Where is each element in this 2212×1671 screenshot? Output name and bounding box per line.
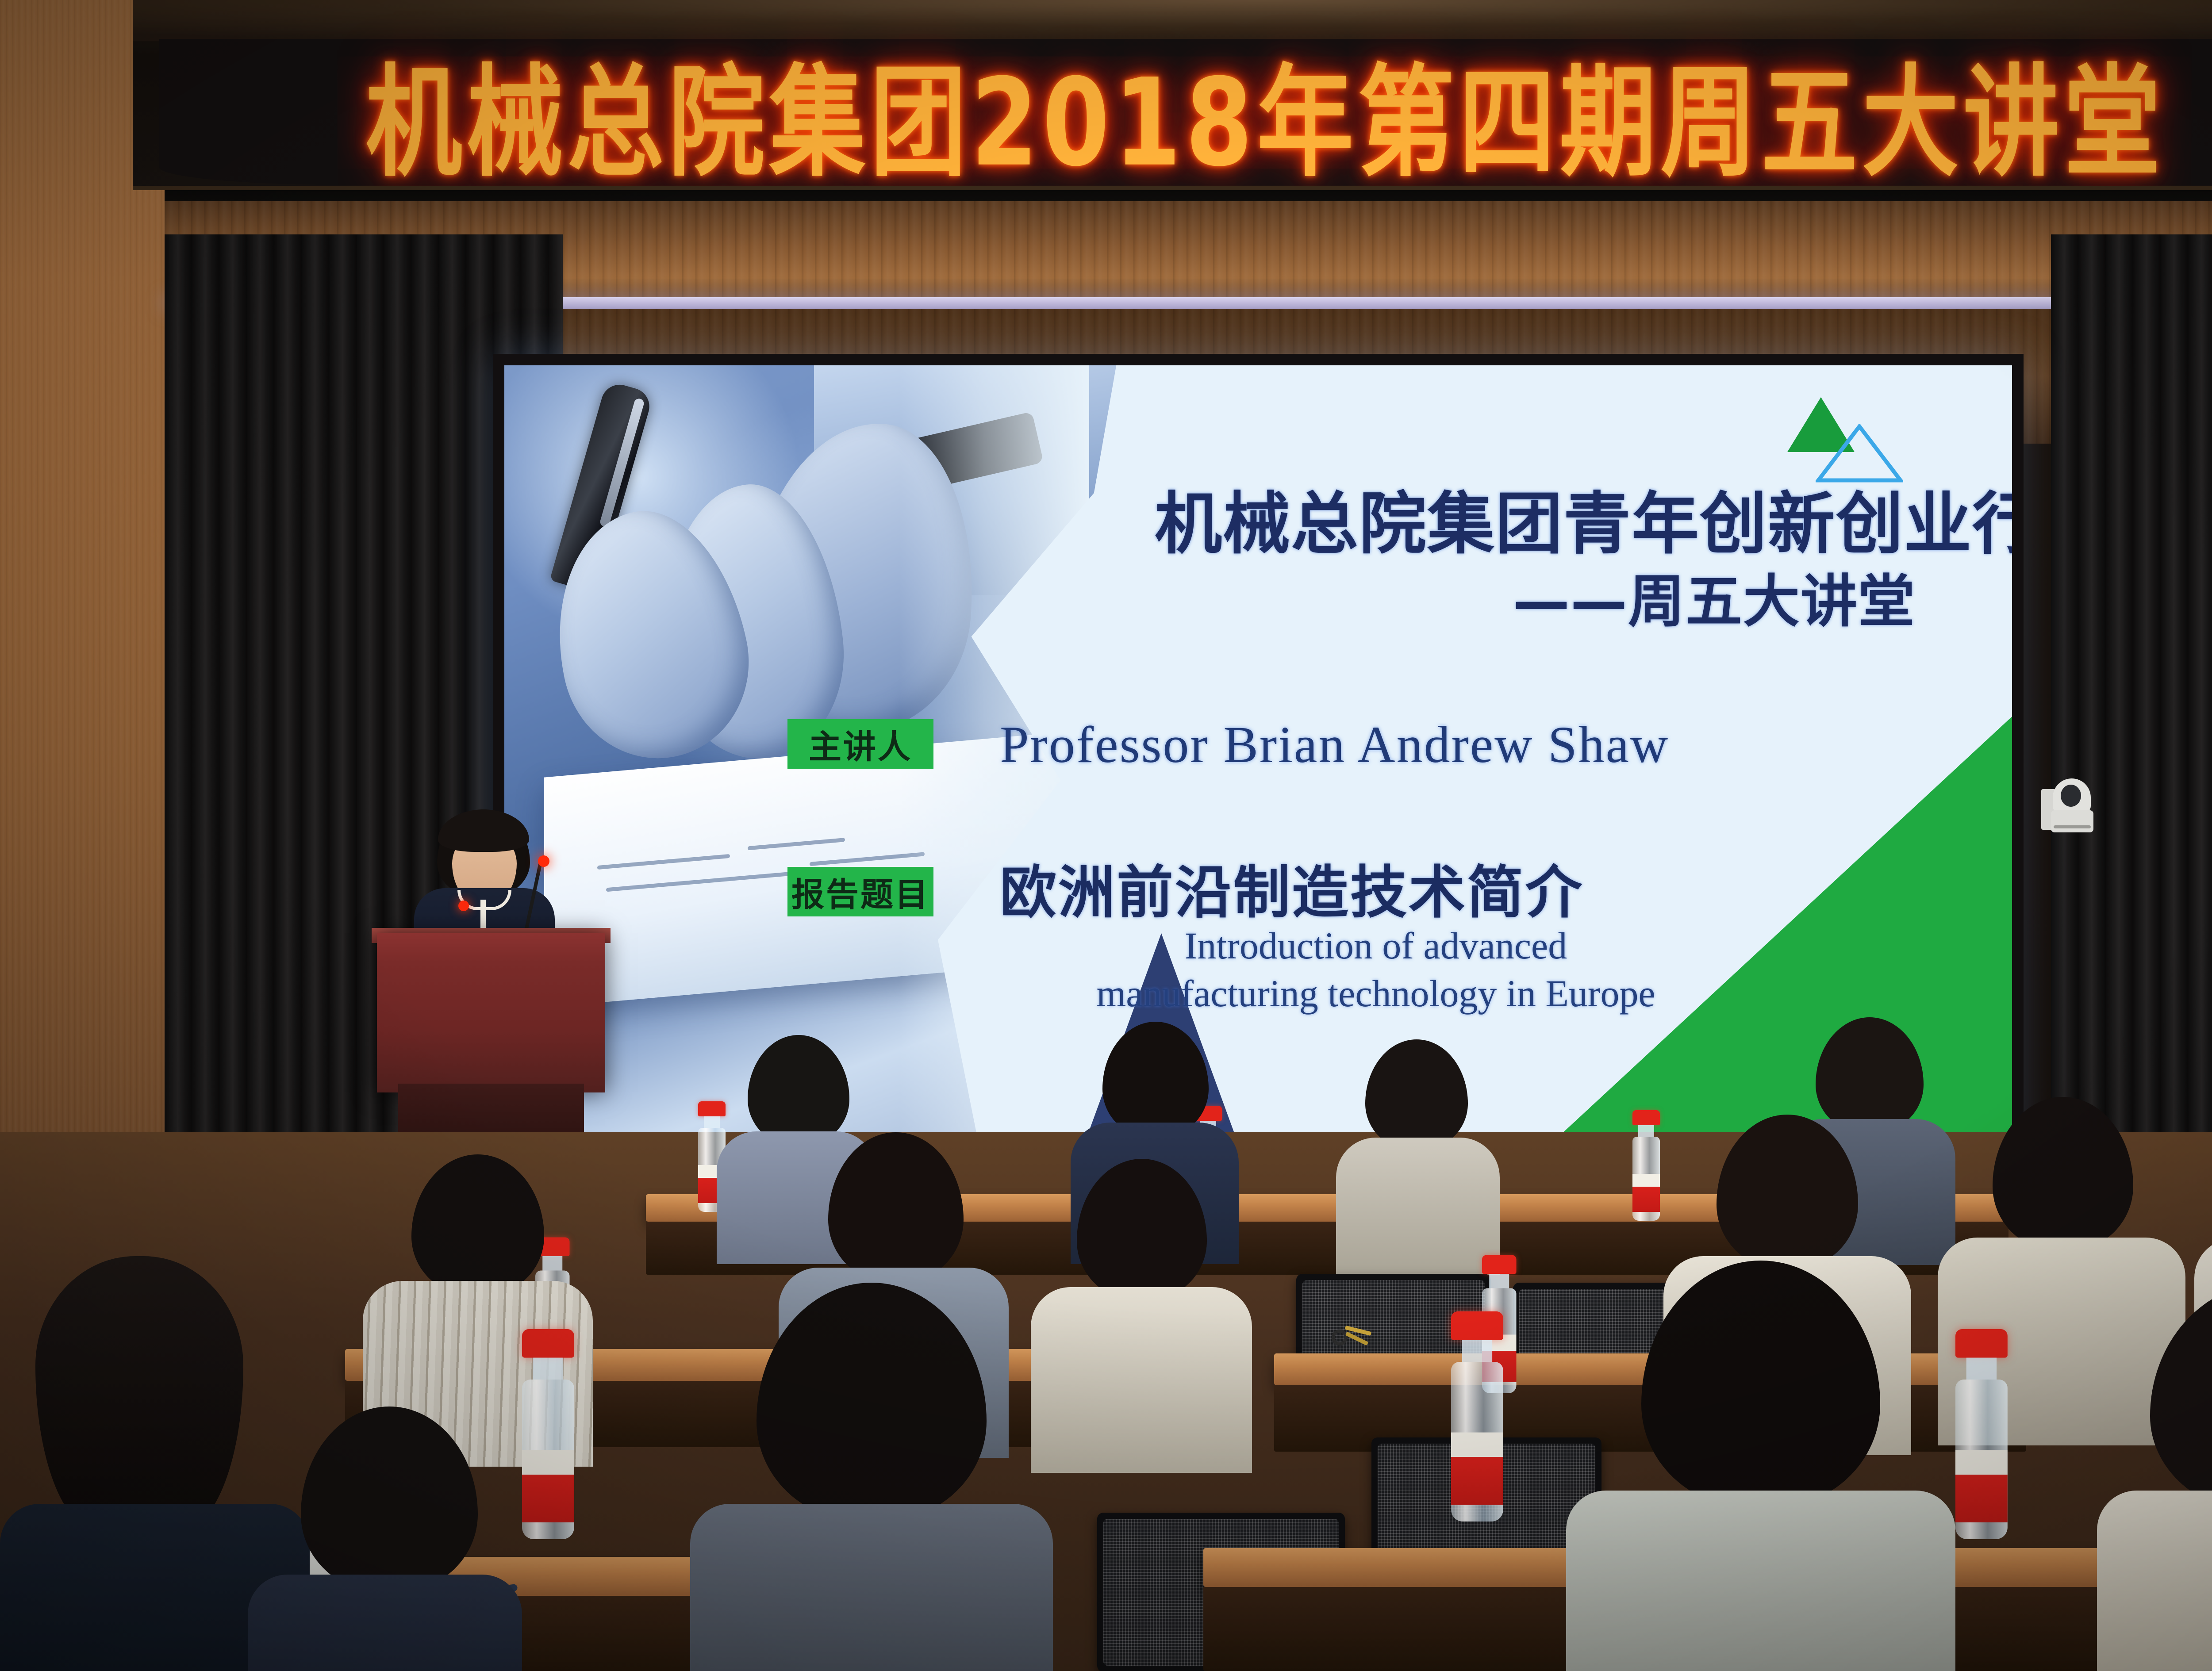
person-torso xyxy=(1031,1287,1252,1473)
slide-subtitle: ——周五大讲堂 xyxy=(1155,556,1995,637)
microphone-indicator-light xyxy=(538,855,549,867)
slide-topic-english-line1: Introduction of advanced xyxy=(1000,922,1752,970)
presenter-fringe xyxy=(438,809,529,852)
slide-speaker-badge: 主讲人 xyxy=(787,719,933,769)
lapel-indicator-light xyxy=(458,901,469,911)
water-bottle xyxy=(1632,1110,1660,1221)
person-head xyxy=(757,1283,987,1522)
person-head xyxy=(828,1132,964,1283)
person-torso xyxy=(1336,1138,1500,1275)
water-bottle xyxy=(522,1329,574,1539)
car-keys xyxy=(1332,1327,1374,1348)
person-head xyxy=(411,1154,544,1296)
person-head xyxy=(1365,1039,1468,1150)
person-head xyxy=(748,1035,849,1146)
slide-topic-chinese: 欧洲前沿制造技术简介 xyxy=(1000,847,1584,928)
led-banner-panel: 机械总院集团2018年第四期周五大讲堂 xyxy=(159,39,2212,185)
person-head xyxy=(1077,1159,1207,1300)
lecture-hall-photo: 机械总院集团2018年第四期周五大讲堂 xyxy=(0,0,2212,1671)
person-head xyxy=(1993,1097,2133,1251)
person-head xyxy=(301,1407,478,1592)
ptz-camera-icon xyxy=(2041,778,2094,836)
person-torso xyxy=(690,1504,1053,1671)
slide-speaker-name: Professor Brian Andrew Shaw xyxy=(1000,715,1669,775)
person-head xyxy=(1102,1022,1209,1138)
water-bottle xyxy=(1955,1329,2008,1539)
person-head xyxy=(1641,1261,1880,1508)
slide-topic-badge: 报告题目 xyxy=(787,867,933,916)
slide-title: 机械总院集团青年创新创业行动 xyxy=(1155,469,1995,567)
led-banner-housing: 机械总院集团2018年第四期周五大讲堂 xyxy=(133,0,2212,190)
person-head xyxy=(2150,1283,2212,1513)
slide-topic-english: Introduction of advanced manufacturing t… xyxy=(1000,922,1752,1018)
audience-person xyxy=(1336,1039,1500,1230)
audience-person xyxy=(1566,1261,1955,1671)
person-torso xyxy=(248,1575,522,1671)
person-head xyxy=(1717,1115,1858,1269)
person-head xyxy=(35,1256,243,1530)
water-bottle xyxy=(1451,1311,1503,1522)
audience-person xyxy=(248,1407,522,1671)
audience-person xyxy=(690,1283,1053,1671)
podium xyxy=(377,933,605,1092)
audience-person xyxy=(2097,1283,2212,1671)
person-torso xyxy=(2097,1491,2212,1671)
person-torso xyxy=(1566,1491,1955,1671)
led-banner-text: 机械总院集团2018年第四期周五大讲堂 xyxy=(366,25,2165,191)
audience-person xyxy=(1031,1159,1252,1411)
slide-topic-english-line2: manufacturing technology in Europe xyxy=(1000,970,1752,1017)
